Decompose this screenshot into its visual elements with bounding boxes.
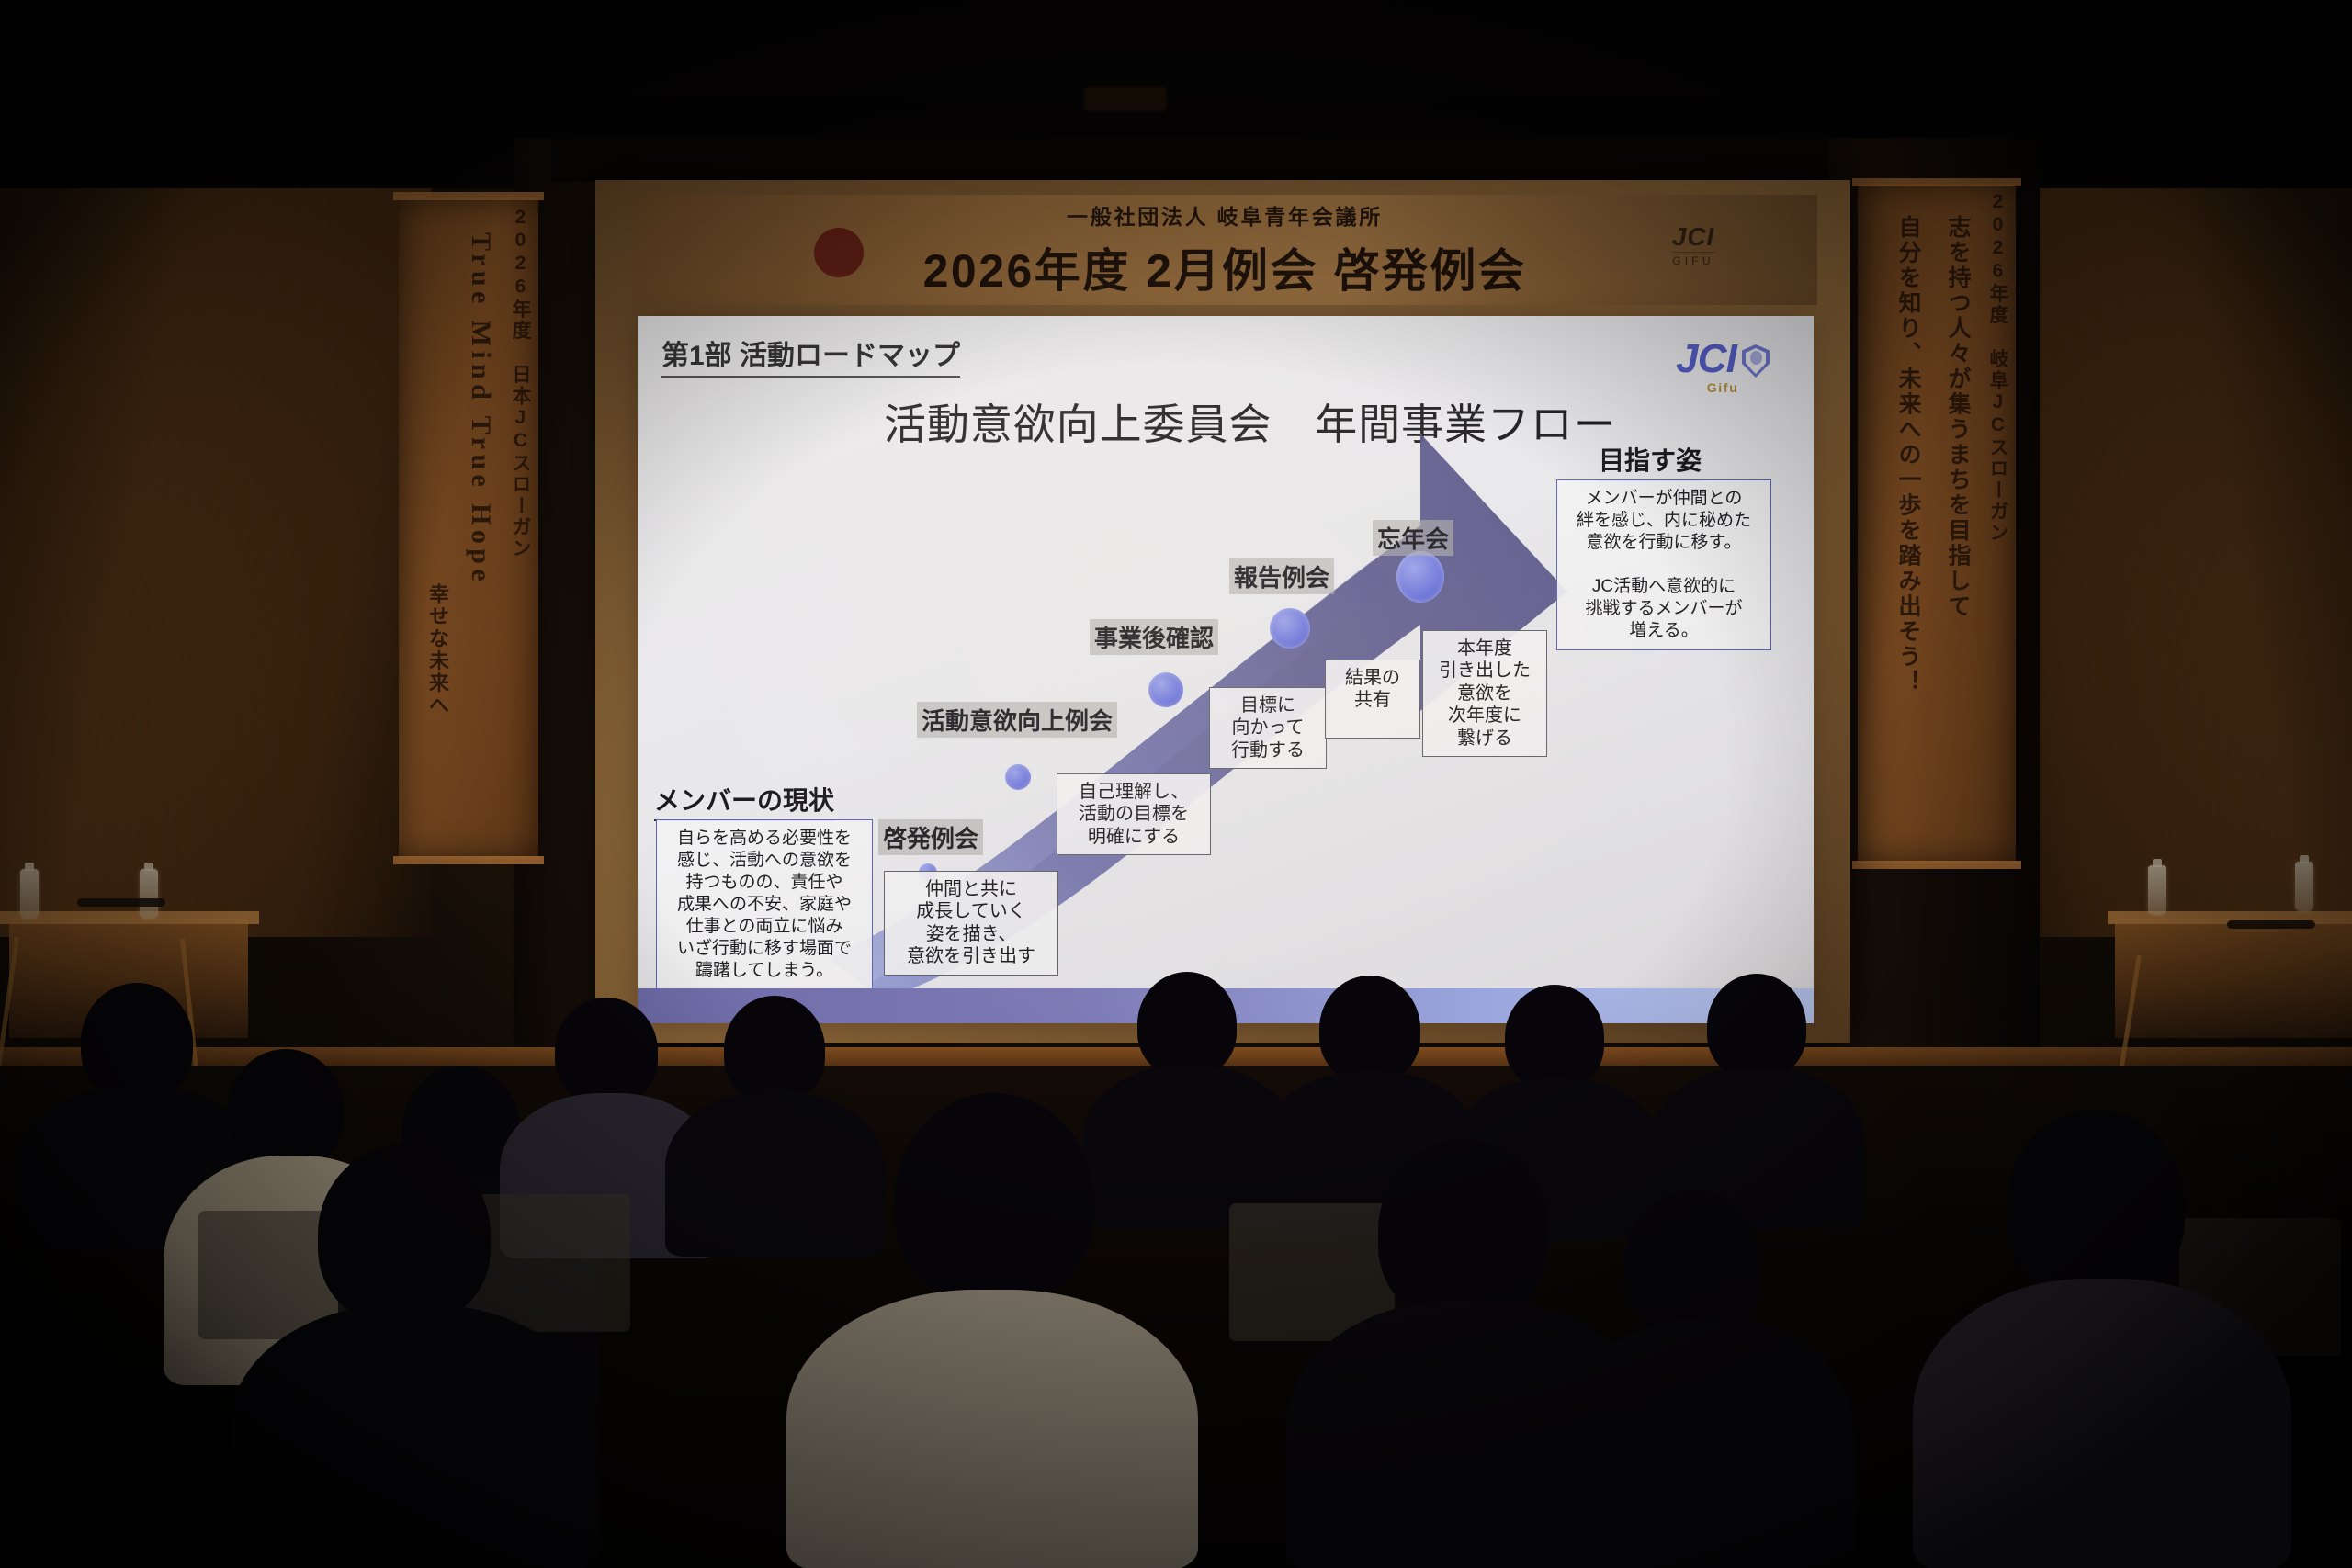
milestone-node-4[interactable] bbox=[1270, 608, 1310, 649]
banner-left-slogan: True Mind True Hope bbox=[466, 232, 496, 586]
audience-head bbox=[1707, 974, 1806, 1078]
auditorium-scene: 2026年度 日本JCスローガン True Mind True Hope 幸せな… bbox=[0, 0, 2352, 1568]
stage-table-left-top bbox=[0, 911, 259, 924]
banner-rod-bottom bbox=[393, 856, 544, 864]
audience-head bbox=[724, 996, 825, 1102]
audience-head bbox=[1505, 985, 1604, 1089]
stage-banner-jci-word: JCI bbox=[1672, 222, 1714, 252]
audience-body-front bbox=[230, 1304, 597, 1568]
banner-right-heading: 2026年度 岐阜JCスローガン bbox=[1987, 191, 2008, 544]
milestone-label-1: 啓発例会 bbox=[878, 819, 983, 855]
hanging-banner-left: 2026年度 日本JCスローガン True Mind True Hope 幸せな… bbox=[399, 197, 538, 859]
audience-head-front bbox=[1378, 1139, 1549, 1323]
stage-banner-jci-logo: JCI GIFU bbox=[1672, 222, 1714, 267]
audience-head-front bbox=[895, 1093, 1093, 1304]
water-bottle-right-1 bbox=[2148, 865, 2166, 915]
microphone-right bbox=[2227, 920, 2315, 929]
callout-box-3: 目標に 向かって 行動する bbox=[1209, 687, 1327, 769]
banner-right-line2: 自分を知り、未来への一歩を踏み出そう！ bbox=[1895, 215, 1921, 695]
chair-back bbox=[465, 1194, 630, 1332]
banner-rod-top-right bbox=[1852, 178, 2021, 186]
goal-state-box: メンバーが仲間との 絆を感じ、内に秘めた 意欲を行動に移す。 JC活動へ意欲的に… bbox=[1556, 479, 1771, 650]
callout-box-4: 結果の 共有 bbox=[1325, 660, 1420, 739]
milestone-label-5: 忘年会 bbox=[1373, 520, 1453, 556]
slide-section-label: 第1部 活動ロードマップ bbox=[661, 333, 960, 378]
stage-banner-org: 一般社団法人 岐阜青年会議所 bbox=[923, 199, 1527, 231]
audience-head bbox=[1137, 972, 1237, 1077]
milestone-node-2[interactable] bbox=[1005, 764, 1031, 790]
stage-banner-jci-sub: GIFU bbox=[1672, 252, 1714, 267]
microphone-left bbox=[77, 898, 165, 907]
current-state-heading: メンバーの現状 bbox=[654, 781, 834, 821]
milestone-label-4: 報告例会 bbox=[1229, 558, 1334, 594]
audience-head-front bbox=[318, 1145, 491, 1325]
goal-state-heading: 目指す姿 bbox=[1599, 441, 1702, 481]
audience-head-front bbox=[2007, 1110, 2185, 1299]
callout-box-1: 仲間と共に 成長していく 姿を描き、 意欲を引き出す bbox=[884, 871, 1058, 976]
hall-wall-left-warm bbox=[0, 110, 432, 937]
projection-screen-frame: 一般社団法人 岐阜青年会議所 2026年度 2月例会 啓発例会 JCI GIFU… bbox=[595, 180, 1850, 1043]
audience-head bbox=[1319, 976, 1420, 1082]
banner-rod-bottom-right bbox=[1852, 861, 2021, 869]
banner-left-subtitle: 幸せな未来へ bbox=[426, 583, 448, 716]
presentation-slide: 第1部 活動ロードマップ 活動意欲向上委員会 年間事業フロー JCI Gifu bbox=[638, 316, 1814, 1023]
jci-shield-icon bbox=[1742, 344, 1770, 378]
audience-body-front bbox=[1913, 1279, 2291, 1568]
hinomaru-flag-icon bbox=[814, 228, 864, 277]
callout-box-5: 本年度 引き出した 意欲を 次年度に 繋げる bbox=[1422, 630, 1547, 757]
audience-body-front bbox=[1562, 1319, 1856, 1568]
audience-body-front bbox=[786, 1290, 1198, 1568]
audience-head-front bbox=[1624, 1190, 1762, 1337]
stage-banner-title: 2026年度 2月例会 啓発例会 bbox=[923, 234, 1527, 300]
audience-head bbox=[81, 983, 193, 1100]
stage-table-right bbox=[2115, 919, 2352, 1038]
audience-body bbox=[665, 1091, 884, 1257]
water-bottle-left-2 bbox=[140, 869, 158, 919]
callout-box-2: 自己理解し、 活動の目標を 明確にする bbox=[1057, 773, 1211, 855]
banner-right-line1: 志を持つ人々が集うまちを目指して bbox=[1945, 215, 1971, 619]
water-bottle-left-1 bbox=[20, 869, 39, 919]
slide-jci-logo: JCI Gifu bbox=[1676, 336, 1770, 395]
proscenium-header bbox=[551, 138, 1828, 182]
audience-head bbox=[228, 1049, 344, 1170]
hanging-banner-right: 2026年度 岐阜JCスローガン 志を持つ人々が集うまちを目指して 自分を知り、… bbox=[1858, 184, 2016, 863]
milestone-label-3: 事業後確認 bbox=[1090, 619, 1218, 655]
audience-head bbox=[555, 998, 658, 1104]
milestone-label-2: 活動意欲向上例会 bbox=[917, 702, 1117, 738]
stage-banner-strip: 一般社団法人 岐阜青年会議所 2026年度 2月例会 啓発例会 JCI GIFU bbox=[632, 195, 1817, 305]
slide-jci-word: JCI bbox=[1676, 336, 1736, 381]
banner-left-heading: 2026年度 日本JCスローガン bbox=[510, 207, 531, 559]
slide-jci-sub: Gifu bbox=[1676, 380, 1770, 395]
milestone-node-3[interactable] bbox=[1148, 672, 1183, 707]
current-state-box: 自らを高める必要性を 感じ、活動への意欲を 持つものの、責任や 成果への不安、家… bbox=[656, 819, 873, 990]
water-bottle-right-2 bbox=[2295, 862, 2313, 911]
slide-title: 活動意欲向上委員会 年間事業フロー bbox=[884, 391, 1617, 452]
projection-screen: 一般社団法人 岐阜青年会議所 2026年度 2月例会 啓発例会 JCI GIFU… bbox=[595, 180, 1850, 1043]
banner-rod-top bbox=[393, 192, 544, 200]
ceiling-vent bbox=[1084, 87, 1167, 111]
milestone-node-5[interactable] bbox=[1396, 551, 1444, 603]
